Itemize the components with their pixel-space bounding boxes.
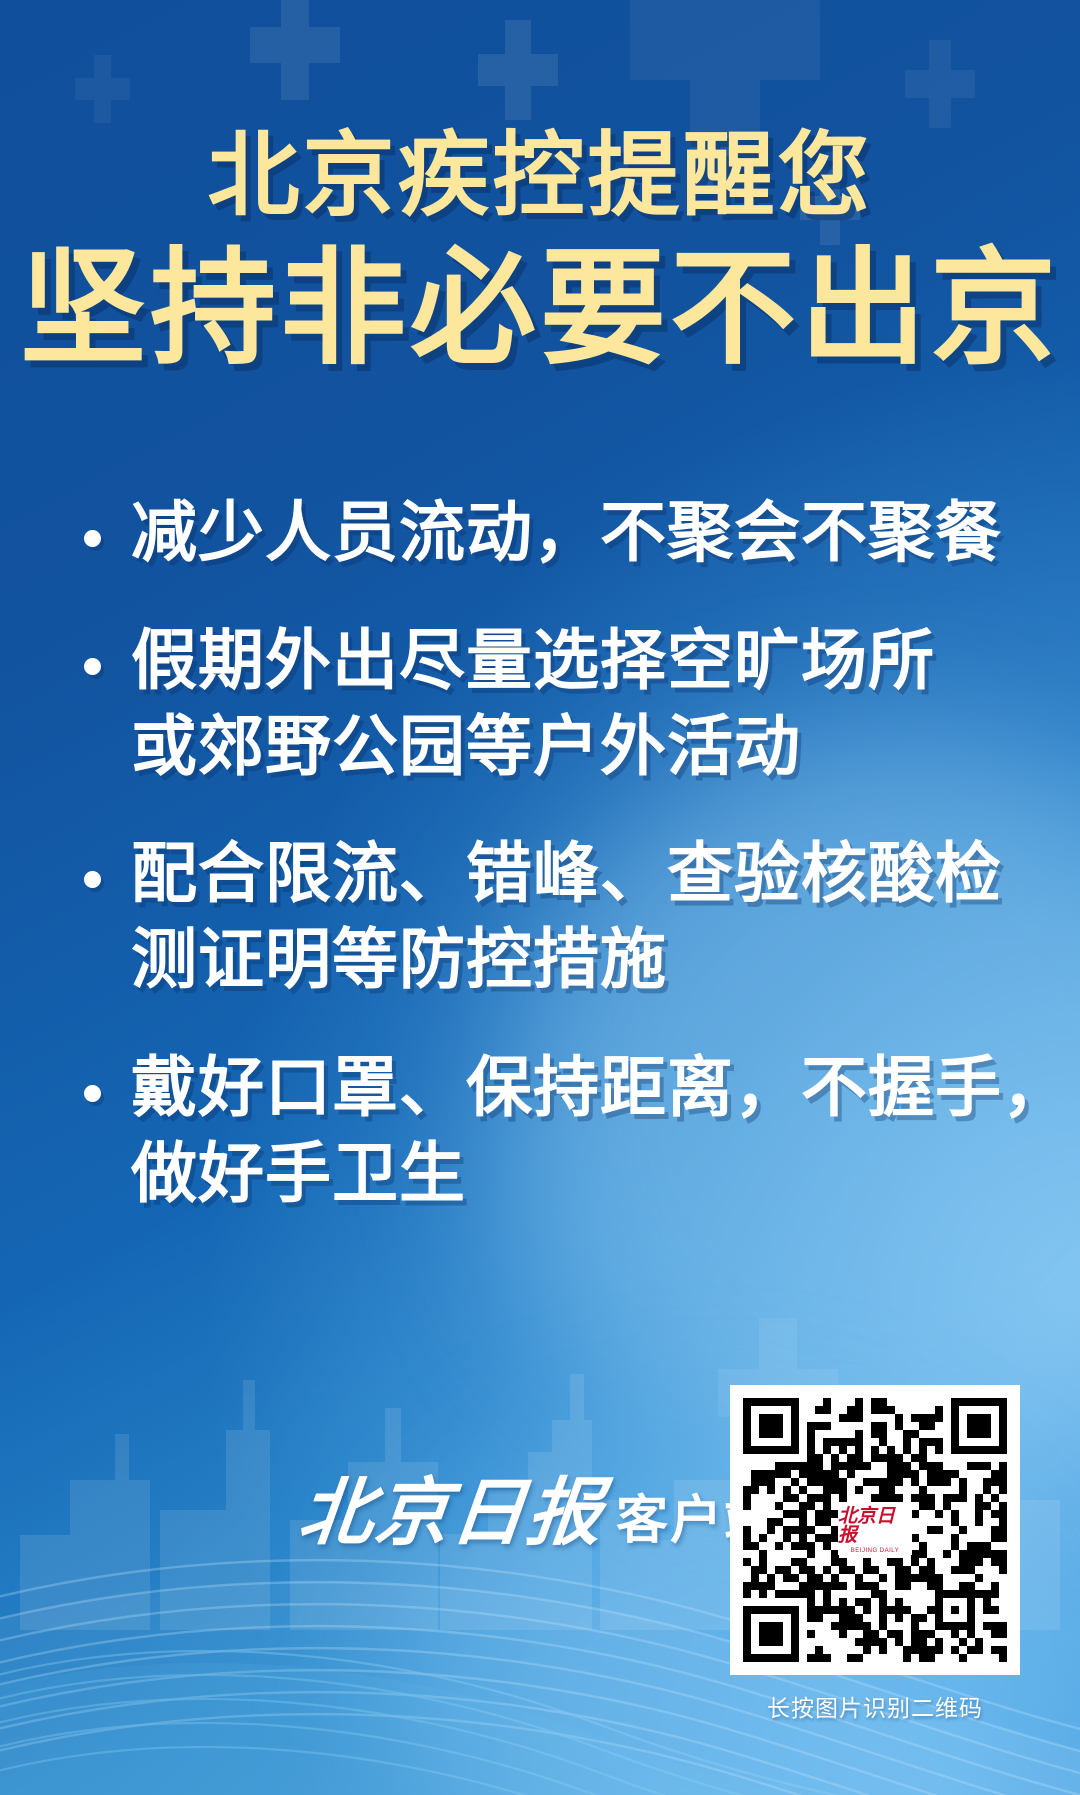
cross-icon-4 [75, 55, 130, 123]
cross-icon-5 [905, 40, 975, 128]
qr-caption: 长按图片识别二维码 [730, 1689, 1020, 1723]
bullet-line: 测证明等防控措施 [131, 917, 1002, 1003]
bullet-line: 或郊野公园等户外活动 [131, 704, 935, 790]
headline-block: 北京疾控提醒您 坚持非必要不出京 [0, 130, 1080, 372]
headline-line-1: 北京疾控提醒您 [0, 130, 1080, 222]
brand-name-calligraphy: 北京日报 [294, 1453, 609, 1560]
bullet-list: 减少人员流动，不聚会不聚餐 假期外出尽量选择空旷场所 或郊野公园等户外活动 配合… [84, 490, 1020, 1259]
cross-icon-1 [250, 0, 340, 100]
bullet-line: 戴好口罩、保持距离，不握手， [131, 1045, 1069, 1131]
bullet-dot-icon [84, 871, 101, 888]
qr-logo-en: BEIJING DAILY [851, 1548, 899, 1554]
qr-center-logo: 北京日报 BEIJING DAILY [838, 1505, 912, 1555]
bullet-dot-icon [84, 1085, 101, 1102]
bullet-text: 戴好口罩、保持距离，不握手， 做好手卫生 [131, 1045, 1069, 1217]
cross-icon-2 [478, 20, 558, 120]
qr-code[interactable]: 北京日报 BEIJING DAILY [730, 1385, 1020, 1675]
bullet-text: 配合限流、错峰、查验核酸检 测证明等防控措施 [131, 831, 1002, 1003]
bullet-line: 假期外出尽量选择空旷场所 [131, 618, 935, 704]
bullet-text: 假期外出尽量选择空旷场所 或郊野公园等户外活动 [131, 618, 935, 790]
headline-line-2: 坚持非必要不出京 [0, 246, 1080, 372]
bullet-line: 配合限流、错峰、查验核酸检 [131, 831, 1002, 917]
list-item: 配合限流、错峰、查验核酸检 测证明等防控措施 [84, 831, 1020, 1003]
bullet-line: 减少人员流动，不聚会不聚餐 [131, 490, 1002, 576]
poster-canvas: 北京疾控提醒您 坚持非必要不出京 减少人员流动，不聚会不聚餐 假期外出尽量选择空… [0, 0, 1080, 1795]
brand-logo: 北京日报 客户端 [300, 1453, 778, 1560]
bullet-line: 做好手卫生 [131, 1131, 1069, 1217]
list-item: 戴好口罩、保持距离，不握手， 做好手卫生 [84, 1045, 1020, 1217]
block-decor-1 [630, 0, 820, 80]
list-item: 减少人员流动，不聚会不聚餐 [84, 490, 1020, 576]
bullet-dot-icon [84, 530, 101, 547]
qr-logo-cn: 北京日报 [838, 1507, 912, 1545]
qr-code-block: 北京日报 BEIJING DAILY 长按图片识别二维码 [730, 1385, 1020, 1723]
bullet-text: 减少人员流动，不聚会不聚餐 [131, 490, 1002, 576]
bullet-dot-icon [84, 658, 101, 675]
list-item: 假期外出尽量选择空旷场所 或郊野公园等户外活动 [84, 618, 1020, 790]
